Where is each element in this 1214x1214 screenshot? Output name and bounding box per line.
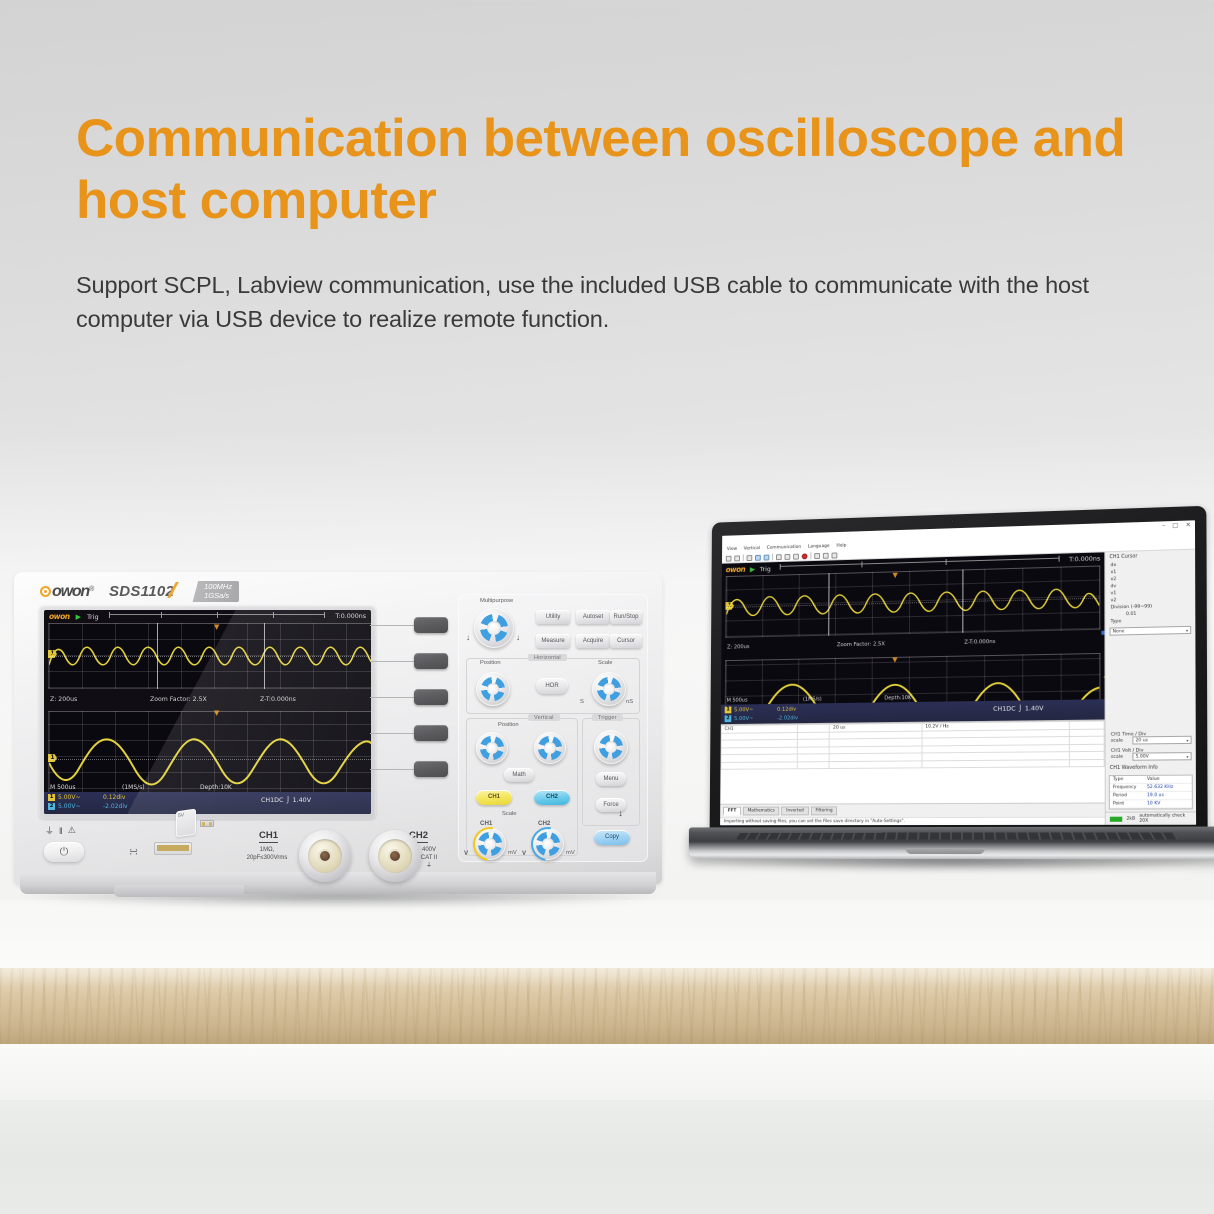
trigger-slope-icon: ⌡ — [286, 797, 289, 804]
trigger-time: T:0.000ns — [335, 613, 366, 620]
winfo-val-point: 10 KV — [1147, 801, 1160, 806]
trig-label: Trig — [87, 613, 99, 621]
timebase-unit-ns: nS — [626, 699, 633, 705]
ground-icon: ⏚ — [45, 824, 54, 837]
zoom-factor: Zoom Factor: 2.5X — [150, 696, 260, 703]
webcam-icon — [951, 519, 955, 523]
power-icon: ⏻ — [60, 846, 69, 858]
trigger-source: CH1DC — [261, 797, 283, 804]
zoom-timebase: Z: 200us — [50, 696, 150, 703]
brand-strip: owon® SDS1102 100MHz 1GSa/s — [40, 581, 239, 602]
screen-top-bar: owon ▶ Trig T:0.000ns — [44, 610, 371, 623]
toolbar-separator-1 — [743, 554, 744, 561]
floor — [0, 1100, 1214, 1214]
open-icon[interactable] — [726, 555, 732, 561]
zoom-info-bar: Z: 200us Zoom Factor: 2.5X Z-T:0.000ns — [44, 691, 371, 708]
vertical-scale-label: Scale — [502, 811, 517, 817]
division-value: 0.01 — [1126, 612, 1137, 617]
sw-trigger-marker-main: ▼ — [893, 572, 898, 579]
sw-sample-rate: (1MS/s) — [803, 695, 884, 702]
winfo-row-point: Point10 KV — [1110, 800, 1192, 808]
right-side-panel: CH1 Cursor dx x1 x2 dv v1 v2 Division (-… — [1104, 550, 1196, 825]
save-icon[interactable] — [734, 555, 740, 561]
vertical-position-label: Position — [498, 722, 519, 728]
multipurpose-arrow-right-icon: ↓ — [516, 634, 520, 642]
oscilloscope: owon® SDS1102 100MHz 1GSa/s owon ▶ Trig … — [14, 572, 662, 902]
page-subtitle: Support SCPL, Labview communication, use… — [76, 268, 1156, 336]
sw-ch1-offset: 0.12div — [777, 706, 796, 712]
time-div-value: 20 us — [1135, 738, 1147, 743]
edge-arrow-icon: ↓ — [618, 808, 623, 819]
horizontal-position-knob[interactable] — [476, 672, 510, 706]
ch2-voltage-rating: 400V — [402, 846, 456, 854]
laptop-screen[interactable]: – □ ✕ View Vertical Communication Langua… — [720, 520, 1196, 825]
power-button[interactable]: ⏻ — [44, 842, 84, 862]
owon-logo: owon® — [40, 583, 93, 601]
ch2-position-knob[interactable] — [534, 732, 566, 764]
division-label: Division (-99~99) — [1111, 604, 1153, 610]
tab-fft[interactable]: FFT — [723, 807, 741, 816]
memory-depth: Depth:10K — [200, 784, 232, 791]
winfo-val-period: 19.0 us — [1147, 793, 1164, 798]
front-bottom-panel: ⏚ ‖ ⚠ ⏻ ∺ CH1 1MΩ, 20pF≤300Vrms CH2 400V… — [14, 820, 662, 884]
volt-div-select[interactable]: 5.00V▾ — [1132, 752, 1191, 761]
sw-ch1-scale: 5.00V~ — [734, 706, 774, 712]
cursor-key-x2: x2 — [1111, 577, 1134, 583]
sample-rate: (1MS/s) — [122, 784, 200, 791]
sw-zoom-timebase: Z: 200us — [727, 642, 837, 650]
spec-badge: 100MHz 1GSa/s — [188, 581, 239, 602]
maximize-icon[interactable]: □ — [1172, 522, 1178, 530]
ch1-offset: 0.12div — [103, 794, 125, 801]
owon-software-window: – □ ✕ View Vertical Communication Langua… — [720, 520, 1196, 825]
export-icon[interactable] — [832, 552, 838, 558]
softkey-4[interactable] — [414, 725, 448, 741]
app-status-bar: 2kB automatically check 20X — [1106, 811, 1196, 824]
usb-host-port[interactable] — [154, 842, 192, 855]
trigger-status: CH1DC ⌡ 1.40V — [261, 797, 311, 804]
menu-help[interactable]: Help — [836, 543, 846, 548]
tab-mathematics[interactable]: Mathematics — [743, 807, 780, 816]
waveform-info-title: CH1 Waveform Info — [1106, 762, 1196, 773]
sw-ch1-badge: 1 — [725, 707, 732, 714]
tab-filtering[interactable]: Filtering — [811, 806, 838, 815]
refresh-icon[interactable] — [776, 554, 782, 560]
oscilloscope-foot — [114, 885, 244, 897]
measurement-table[interactable]: CH1 20 us 10.2V / Hz — [720, 719, 1104, 803]
chevron-down-icon: ▾ — [1186, 754, 1188, 759]
horizontal-position-label: Position — [480, 660, 501, 666]
hor-button[interactable]: HOR — [536, 678, 568, 694]
chevron-down-icon: ▾ — [1186, 627, 1188, 632]
progress-label: 2kB — [1126, 816, 1135, 821]
volt-div-value: 5.00V — [1136, 754, 1149, 759]
ch2-input-spec: 400V CAT II ⏚ — [402, 846, 456, 870]
measure-icon[interactable] — [814, 553, 820, 559]
ch1-bnc-connector[interactable] — [299, 830, 351, 882]
ch1-position-knob[interactable] — [476, 732, 508, 764]
menu-language[interactable]: Language — [808, 544, 830, 550]
ch2-ground-icon: ⏚ — [402, 862, 456, 870]
ch2-status-row: 2 5.00V~ -2.02div — [48, 803, 128, 810]
status-right-text: automatically check 20X — [1139, 813, 1192, 823]
undo-icon[interactable] — [785, 553, 791, 559]
horizontal-group-label: Horizontal — [528, 654, 567, 661]
measure-button[interactable]: Measure — [536, 634, 570, 648]
softkey-5[interactable] — [414, 761, 448, 777]
cursor-key-dv: dv — [1111, 584, 1134, 590]
winfo-key-period: Period — [1113, 793, 1142, 798]
laptop-front-latch — [905, 848, 985, 854]
sw-owon-logo: owon — [726, 565, 745, 574]
window-body: owon ▶ Trig T:0.000ns 1 — [720, 550, 1196, 826]
main-timebase: M 500us — [50, 784, 122, 791]
sw-trigger-time: T:0.000ns — [1069, 555, 1100, 563]
copy-icon[interactable] — [747, 555, 753, 561]
menu-vertical[interactable]: Vertical — [744, 546, 760, 551]
caution-bar-icon: ‖ — [59, 826, 63, 836]
ch2-cat-rating: CAT II — [402, 854, 456, 862]
badge-samplerate: 1GSa/s — [204, 592, 232, 601]
type-label: Type — [1111, 619, 1134, 625]
waveform-info-table: TypeValue Frequency52.632 KHz Period19.0… — [1109, 775, 1193, 810]
sw-memory-depth: Depth:10K — [884, 695, 911, 701]
trigger-menu-button[interactable]: Menu — [596, 772, 626, 786]
winfo-col-value: Value — [1147, 777, 1160, 782]
sw-play-icon: ▶ — [750, 565, 755, 573]
type-row: Type — [1105, 617, 1195, 626]
ch2-button[interactable]: CH2 — [534, 790, 570, 805]
trigger-position-marker-main: ▼ — [214, 624, 219, 631]
laptop-lid: – □ ✕ View Vertical Communication Langua… — [710, 506, 1208, 835]
winfo-col-type: Type — [1113, 777, 1142, 782]
ch1-level-arrow-icon[interactable] — [1103, 673, 1104, 681]
multipurpose-label: Multipurpose — [480, 598, 513, 604]
winfo-row-period: Period19.0 us — [1110, 792, 1192, 800]
close-icon[interactable]: ✕ — [1186, 521, 1191, 529]
trigger-position-marker-zoom: ▼ — [214, 710, 219, 717]
oscilloscope-screen[interactable]: owon ▶ Trig T:0.000ns 1 ▼ Z: 200us Zoom … — [44, 610, 371, 814]
menu-communication[interactable]: Communication — [767, 545, 802, 551]
desk-underside — [0, 1044, 1214, 1104]
horizontal-scale-knob[interactable] — [592, 672, 626, 706]
utility-button[interactable]: Utility — [536, 610, 570, 624]
connection-status-indicator — [1110, 816, 1123, 821]
software-waveform-display[interactable]: owon ▶ Trig T:0.000ns 1 — [721, 552, 1105, 724]
ch2-badge: 2 — [48, 803, 55, 810]
screen-owon-logo: owon — [49, 612, 70, 621]
winfo-val-frequency: 52.632 KHz — [1147, 785, 1173, 790]
toolbar-separator-2 — [772, 553, 773, 560]
ch1-scale: 5.00V~ — [58, 794, 100, 801]
cursor-type-select[interactable]: None▾ — [1110, 626, 1192, 636]
timebase-unit-s: S — [580, 699, 584, 705]
laptop-keyboard[interactable] — [736, 832, 1179, 839]
window-controls: – □ ✕ — [1162, 521, 1191, 530]
warning-triangle-icon: ⚠ — [68, 825, 76, 836]
sw-main-timebase: M 500us — [727, 696, 803, 703]
minimize-icon[interactable]: – — [1162, 522, 1165, 530]
timebase-info-bar: M 500us (1MS/s) Depth:10K — [44, 782, 371, 792]
display-bezel: owon ▶ Trig T:0.000ns 1 ▼ Z: 200us Zoom … — [39, 605, 376, 819]
left-column: owon ▶ Trig T:0.000ns 1 — [720, 552, 1105, 825]
trigger-group-label: Trigger — [592, 714, 623, 721]
sw-zoom-window-region — [828, 569, 963, 635]
record-icon[interactable] — [802, 553, 808, 559]
laptop-base — [689, 827, 1214, 860]
softkey-3[interactable] — [414, 689, 448, 705]
trigger-level-knob[interactable] — [594, 730, 628, 764]
multipurpose-arrow-left-icon: ↓ — [466, 634, 470, 642]
sw-ch2-badge: 2 — [725, 715, 732, 722]
sw-trigger-level: 1.40V — [1025, 705, 1044, 712]
status-bar: 1 5.00V~ 0.12div 2 5.00V~ -2.02div CH1DC… — [44, 792, 371, 814]
multipurpose-knob[interactable] — [474, 608, 514, 648]
sw-ch1-status-row: 1 5.00V~ 0.12div — [725, 706, 797, 714]
cursor-key-v2: v2 — [1111, 598, 1134, 604]
ch1-badge: 1 — [48, 794, 55, 801]
time-div-select[interactable]: 20 us▾ — [1132, 736, 1191, 745]
winfo-key-frequency: Frequency — [1113, 785, 1142, 790]
ch2-scale: 5.00V~ — [58, 803, 100, 810]
menu-view[interactable]: View — [727, 547, 737, 552]
memory-position-bar — [109, 614, 326, 619]
probe-comp-label: 5V — [178, 812, 184, 819]
status-message: Importing without saving files, you can … — [720, 817, 1105, 826]
acquire-button[interactable]: Acquire — [576, 634, 610, 648]
bottom-tabs: FFT Mathematics Inverted Filtering — [720, 803, 1105, 818]
sw-trigger-slope-icon: ⌡ — [1019, 705, 1022, 712]
softkey-2[interactable] — [414, 653, 448, 669]
redo-icon[interactable] — [793, 553, 799, 559]
cursor-drag-handle[interactable] — [1101, 631, 1104, 635]
ch1-button[interactable]: CH1 — [476, 790, 512, 805]
softkey-1[interactable] — [414, 617, 448, 633]
trigger-level: 1.40V — [293, 797, 311, 804]
chevron-down-icon: ▾ — [1186, 737, 1188, 742]
waveform-icon[interactable] — [764, 554, 770, 560]
cursor-key-dx: dx — [1110, 563, 1133, 569]
autoset-button[interactable]: Autoset — [576, 610, 610, 624]
sw-ch2-status-row: 2 5.00V~ -2.02div — [725, 714, 798, 722]
cursor-type-value: None — [1113, 629, 1125, 634]
grid-icon[interactable] — [823, 552, 829, 558]
sw-trig-label: Trig — [760, 565, 771, 573]
laptop: – □ ✕ View Vertical Communication Langua… — [660, 500, 1214, 900]
cursor-key-v1: v1 — [1111, 591, 1134, 597]
zoom-delay: Z-T:0.000ns — [260, 696, 296, 703]
winfo-key-point: Point — [1113, 801, 1142, 806]
sw-ch2-scale: 5.00V~ — [734, 715, 774, 721]
ch1-connector-label: CH1 — [259, 830, 278, 843]
vertical-group-label: Vertical — [528, 714, 560, 721]
math-button[interactable]: Math — [504, 768, 534, 782]
play-icon: ▶ — [76, 613, 81, 621]
sw-zoom-factor: Zoom Factor: 2.5X — [837, 640, 964, 649]
desk-wood-edge — [0, 968, 1214, 1044]
ch1-status-row: 1 5.00V~ 0.12div — [48, 794, 125, 801]
horizontal-scale-label: Scale — [598, 660, 613, 666]
safety-markings: ⏚ ‖ ⚠ — [45, 824, 76, 837]
page-title: Communication between oscilloscope and h… — [76, 108, 1156, 232]
header-block: Communication between oscilloscope and h… — [76, 108, 1156, 336]
toolbar-separator-3 — [810, 552, 811, 559]
sw-ch2-offset: -2.02div — [777, 715, 798, 721]
sw-trigger-status: CH1DC ⌡ 1.40V — [993, 705, 1043, 713]
run-stop-button[interactable]: Run/Stop — [610, 610, 642, 624]
select-icon[interactable] — [755, 554, 761, 560]
cursor-button[interactable]: Cursor — [610, 634, 642, 648]
usb-icon: ∺ — [129, 845, 138, 858]
sw-trigger-marker-zoom: ▼ — [892, 657, 897, 664]
zoom-window-region — [157, 623, 265, 689]
volt-div-field-label: scale — [1111, 755, 1134, 760]
ch2-offset: -2.02div — [103, 803, 128, 810]
sw-trigger-source: CH1DC — [993, 706, 1015, 713]
sw-zoom-delay: Z-T:0.000ns — [964, 639, 995, 646]
tab-inverted[interactable]: Inverted — [781, 806, 808, 815]
cursor-key-x1: x1 — [1110, 570, 1133, 576]
time-div-field-label: scale — [1111, 738, 1134, 743]
